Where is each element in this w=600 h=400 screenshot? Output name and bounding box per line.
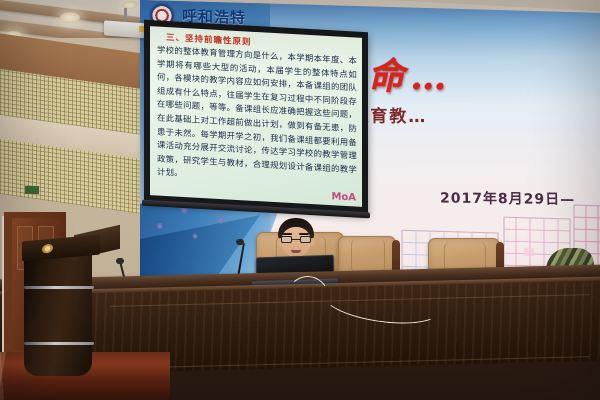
microphone-head bbox=[116, 258, 124, 264]
podium-body bbox=[24, 254, 92, 376]
microphone-head bbox=[236, 239, 244, 245]
glasses-lens bbox=[300, 236, 311, 243]
presenter-mouth bbox=[291, 250, 301, 253]
banner-date: 2017年8月29日— bbox=[440, 188, 576, 209]
speaker-podium bbox=[22, 238, 100, 378]
butterfly-graphic: ❀ bbox=[191, 233, 198, 241]
presenter-eyebrow bbox=[282, 233, 292, 235]
presenter-eyebrow bbox=[299, 233, 309, 235]
podium-trim-band bbox=[24, 342, 94, 345]
slide-watermark: MoA bbox=[331, 191, 356, 203]
ceiling-downlight bbox=[60, 12, 80, 23]
pull-down-projection-screen: 三、坚持前瞻性原则 学校的整体教育管理方向是什么，本学期本年度、本学期将有哪些大… bbox=[144, 20, 368, 215]
projection-screen-surface: 三、坚持前瞻性原则 学校的整体教育管理方向是什么，本学期本年度、本学期将有哪些大… bbox=[150, 26, 362, 207]
glasses-bridge bbox=[292, 239, 300, 240]
exit-sign bbox=[25, 186, 39, 194]
glasses-lens bbox=[281, 236, 292, 243]
screenshot-scene: ❀ ❀ ❀ ❀ ❀ ❀ ❀ bbox=[0, 0, 600, 400]
presenter-glasses bbox=[281, 236, 311, 244]
podium-emblem bbox=[42, 243, 53, 254]
podium-trim-band bbox=[24, 286, 94, 289]
slide-body-text: 学校的整体教育管理方向是什么，本学期本年度、本学期将有哪些大型的活动，本届学生的… bbox=[157, 43, 357, 190]
